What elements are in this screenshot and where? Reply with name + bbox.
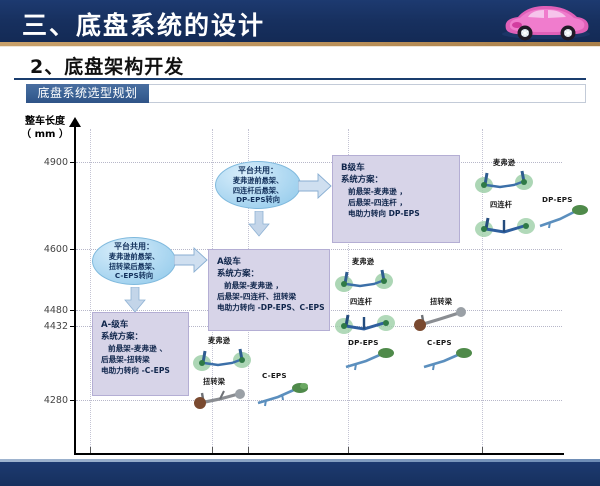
infobox-class-a-minus-sub: 系统方案： (101, 331, 182, 342)
section-subtitle: 2、底盘架构开发 (30, 52, 184, 79)
car-icon (498, 1, 594, 41)
tab-chassis-selection-plan[interactable]: 底盘系统选型规划 (26, 84, 149, 103)
y-tick-4432: 4432 (34, 321, 68, 332)
callout-platform-upper: 平台共用： 麦弗逊前悬架、 四连杆后悬架、 DP-EPS转向 (215, 161, 301, 209)
gridline-4280 (76, 400, 562, 401)
infobox-class-a-sub: 系统方案： (217, 268, 323, 279)
steering-green-icon-right (534, 204, 592, 232)
y-axis-unit: （ mm ） (21, 129, 69, 140)
page-title: 三、底盘系统的设计 (22, 6, 265, 42)
y-axis-title-text: 整车长度 (25, 116, 65, 127)
x-tick-mark-1370 (90, 447, 91, 453)
y-tick-4480: 4480 (34, 305, 68, 316)
infobox-class-a-minus-line-3: 电助力转向 -C-EPS (101, 365, 182, 376)
callout-platform-lower: 平台共用： 麦弗逊前悬架、 扭转梁后悬架、 C-EPS转向 (92, 237, 176, 285)
callout-platform-upper-line-2: 四连杆后悬架、 (233, 186, 283, 196)
infobox-class-a-line-2: 后悬架-四连杆、扭转梁 (217, 291, 323, 302)
axle-brown-icon-mid (412, 305, 470, 333)
infobox-class-b-line-2: 后悬架-四连杆 ， (341, 197, 453, 208)
infobox-class-a-line-1: 前悬架-麦弗逊 ， (217, 280, 323, 291)
multilink-blue-icon-mid (334, 305, 396, 335)
y-tick-4600: 4600 (34, 244, 68, 255)
comp-label-ceps-left: C-EPS (262, 371, 287, 380)
callout-platform-upper-line-1: 麦弗逊前悬架、 (233, 176, 283, 186)
y-tick-4280: 4280 (34, 395, 68, 406)
slide-footer (0, 462, 600, 486)
callout-platform-lower-line-2: 扭转梁后悬架、 (109, 262, 159, 272)
infobox-class-a-line-3: 电助力转向 -DP-EPS、C-EPS (217, 302, 323, 313)
callout-platform-lower-line-3: C-EPS转向 (115, 271, 153, 281)
subtitle-divider (14, 78, 586, 80)
infobox-class-a-minus: A-级车 系统方案： 前悬架-麦弗逊 、 后悬架-扭转梁 电助力转向 -C-EP… (92, 312, 189, 396)
arrow-right-icon-to-class-a (174, 247, 208, 273)
x-tick-mark-1700 (348, 447, 349, 453)
y-axis-line (74, 125, 76, 455)
infobox-class-a-head: A级车 (217, 257, 323, 268)
infobox-class-b-line-1: 前悬架-麦弗逊 ， (341, 186, 453, 197)
header-accent-rule-thin (0, 46, 600, 47)
suspension-green-icon-right (474, 165, 534, 195)
multilink-blue-icon-right (474, 208, 536, 238)
x-axis-line (74, 453, 564, 455)
vgridline-1370 (90, 129, 91, 447)
infobox-class-a-minus-line-2: 后悬架-扭转梁 (101, 354, 182, 365)
steering-green-icon-left (252, 381, 312, 409)
steering-green-icon-dpeps-mid (340, 347, 398, 373)
y-axis-title: 整车长度 （ mm ） (16, 115, 74, 141)
callout-platform-upper-head: 平台共用： (238, 166, 278, 176)
arrow-down-icon-upper (248, 211, 270, 237)
x-tick-mark-2400 (482, 447, 483, 453)
infobox-class-a-minus-line-1: 前悬架-麦弗逊 、 (101, 343, 182, 354)
x-tick-mark-1500 (248, 447, 249, 453)
x-tick-mark-1430 (212, 447, 213, 453)
callout-platform-upper-line-3: DP-EPS转向 (236, 195, 280, 205)
callout-platform-lower-line-1: 麦弗逊前悬架、 (109, 252, 159, 262)
steering-green-icon-ceps-mid (418, 347, 476, 373)
infobox-class-a-minus-head: A-级车 (101, 320, 182, 331)
comp-label-ceps-mid: C-EPS (427, 338, 452, 347)
comp-label-dpeps-right: DP-EPS (542, 195, 573, 204)
infobox-class-b: B级车 系统方案： 前悬架-麦弗逊 ， 后悬架-四连杆 ， 电助力转向 DP-E… (332, 155, 460, 243)
chassis-selection-chart: 整车长度 （ mm ） 4900 4600 4480 4432 4280 137… (0, 105, 600, 460)
slide-header: 三、底盘系统的设计 (0, 0, 600, 42)
suspension-green-icon-mid (334, 264, 394, 294)
arrow-down-icon-lower (124, 287, 146, 313)
infobox-class-b-sub: 系统方案： (341, 174, 453, 185)
comp-label-dpeps-mid: DP-EPS (348, 338, 379, 347)
infobox-class-b-head: B级车 (341, 163, 453, 174)
y-tick-4900: 4900 (34, 157, 68, 168)
arrow-right-icon-to-class-b (298, 173, 332, 199)
infobox-class-b-line-3: 电助力转向 DP-EPS (341, 208, 453, 219)
axle-brown-icon-left (192, 385, 250, 413)
suspension-green-icon-left (192, 343, 252, 373)
y-axis-arrow (69, 117, 81, 127)
infobox-class-a: A级车 系统方案： 前悬架-麦弗逊 ， 后悬架-四连杆、扭转梁 电助力转向 -D… (208, 249, 330, 331)
gridline-4900 (76, 162, 562, 163)
callout-platform-lower-head: 平台共用： (114, 242, 154, 252)
